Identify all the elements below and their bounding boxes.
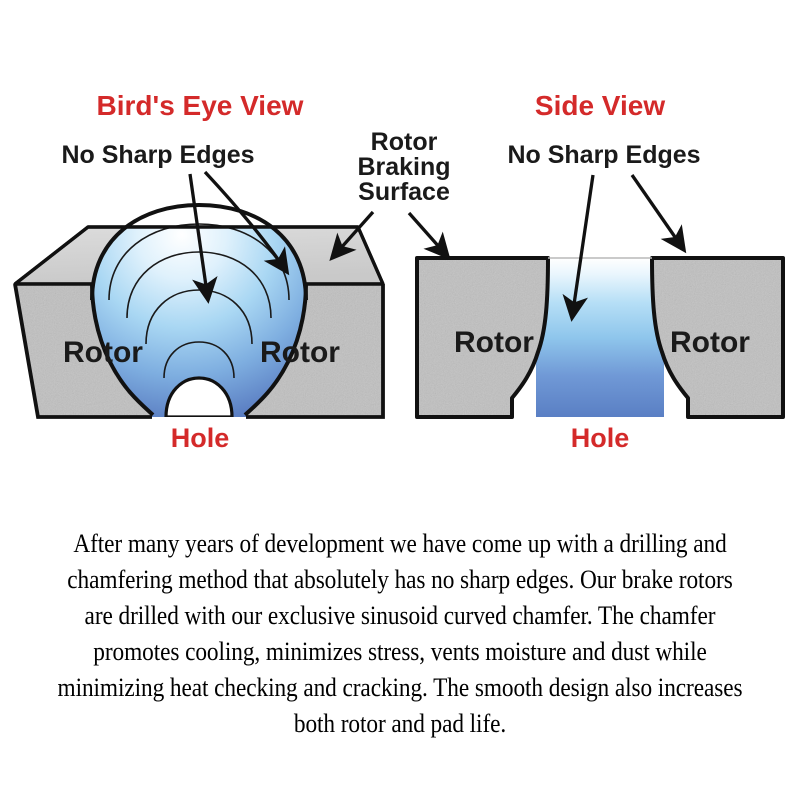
birds-eye-no-sharp-edges-label: No Sharp Edges: [61, 141, 254, 169]
side-view-rotor-label-right: Rotor: [670, 326, 750, 359]
rotor-braking-surface-arrow-right: [409, 213, 448, 257]
diagram-area: Bird's Eye View No Sharp Edges Rotor Bra…: [0, 0, 800, 470]
birds-eye-rotor-label-left: Rotor: [63, 336, 143, 369]
caption-paragraph: After many years of development we have …: [48, 525, 752, 741]
birds-eye-rotor-label-right: Rotor: [260, 336, 340, 369]
birds-eye-title: Bird's Eye View: [97, 90, 304, 121]
birds-eye-hole-label: Hole: [171, 423, 230, 453]
caption-block: After many years of development we have …: [0, 525, 800, 741]
side-view-title: Side View: [535, 90, 665, 121]
side-view-group: Side View No Sharp Edges Rotor Rotor Hol…: [409, 90, 783, 453]
side-view-arrow-no-sharp-edges-2: [632, 175, 684, 250]
side-view-hole-label: Hole: [571, 423, 630, 453]
side-view-rotor-label-left: Rotor: [454, 326, 534, 359]
rotor-braking-surface-label: Rotor Braking Surface: [357, 128, 450, 206]
side-view-no-sharp-edges-label: No Sharp Edges: [507, 141, 700, 169]
rotor-braking-surface-line-3: Surface: [358, 178, 450, 206]
page-root: Bird's Eye View No Sharp Edges Rotor Bra…: [0, 0, 800, 800]
birds-eye-view-group: Bird's Eye View No Sharp Edges Rotor Bra…: [15, 90, 451, 453]
rotor-braking-surface-line-1: Rotor: [371, 128, 438, 156]
rotor-braking-surface-line-2: Braking: [357, 153, 450, 181]
side-view-hole-column: [536, 258, 664, 417]
